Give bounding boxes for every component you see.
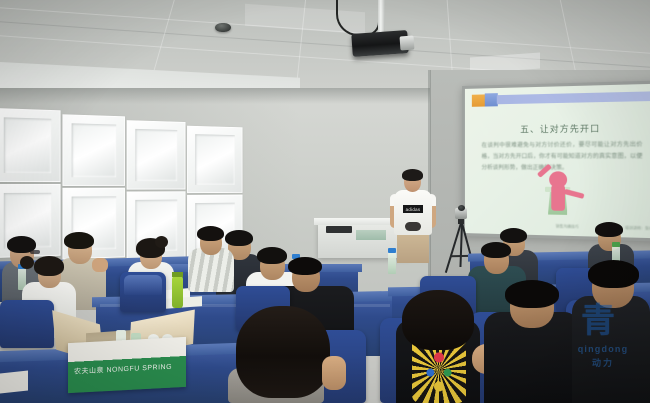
watermark-latin-text: qingdong [560,344,646,354]
slide-surface: 五、让对方先开口 在谈判中很难避免与对方讨价还价，要尽可能让对方先出价格，当对方… [465,84,650,239]
presenter-trousers [397,233,429,263]
slide-title: 五、让对方先开口 [465,121,650,136]
slide-figure-body [551,185,565,211]
bottle-cap [612,242,620,247]
camera-lens-icon [458,205,465,211]
supply-box: 农夫山泉 NONGFU SPRING [68,337,186,393]
attendee-hand [92,258,108,272]
photograph-scene: 五、让对方先开口 在谈判中很难避免与对方讨价还价，要尽可能让对方先出价格，当对方… [0,0,650,403]
hair-bun [20,256,34,269]
hair-bun [155,236,168,248]
projector-mount-pole [378,0,385,36]
slide-footer-left: 销售沟通技巧 [556,224,579,230]
cabinet-dark-panel [326,226,352,233]
thermos-cap [172,272,183,277]
wall-panel [0,108,61,182]
projection-screen: 五、让对方先开口 在谈判中很难避免与对方讨价还价，要尽可能让对方先出价格，当对方… [462,80,650,241]
chair [0,300,54,348]
rosette-medallion-icon [82,136,107,165]
paper-stack [0,371,28,394]
wall-panel [127,120,186,189]
rosette-medallion-icon [14,206,41,236]
watermark-glyph: 青 [570,300,626,342]
rosette-medallion-icon [145,141,169,169]
slide-body-text: 在谈判中很难避免与对方讨价还价，要尽可能让对方先出价格，当对方先开口后，你才有可… [482,139,643,175]
projector-lens-icon [400,36,415,51]
wall-corner-edge [428,70,431,300]
wall-panel [187,126,242,193]
watermark-chinese-text: 动力 [560,356,646,369]
slide-figure-head [549,171,567,188]
green-thermos [172,276,183,308]
bottle-cap [388,248,396,253]
rosette-medallion-icon [204,146,226,173]
smoke-detector-icon [215,23,231,32]
slide-footer-right: 培训讲师：张老师 [625,226,650,232]
tshirt-logo-text: adidas [403,205,423,213]
water-bottle [388,252,396,274]
wall-panel [62,114,125,186]
watermark: 青 qingdong 动力 [560,300,646,376]
presenter-hands [405,222,421,231]
rosette-medallion-icon [145,212,169,240]
supply-box-label: 农夫山泉 NONGFU SPRING [74,361,180,377]
cabinet-green-object [356,230,386,240]
attendee-shoulder [322,356,346,390]
presenter-hair [402,169,423,181]
slide-figure-arm-side [563,189,584,199]
slide-header-bar [496,91,650,104]
eyeglasses-icon [30,250,40,254]
rosette-medallion-icon [14,131,41,161]
